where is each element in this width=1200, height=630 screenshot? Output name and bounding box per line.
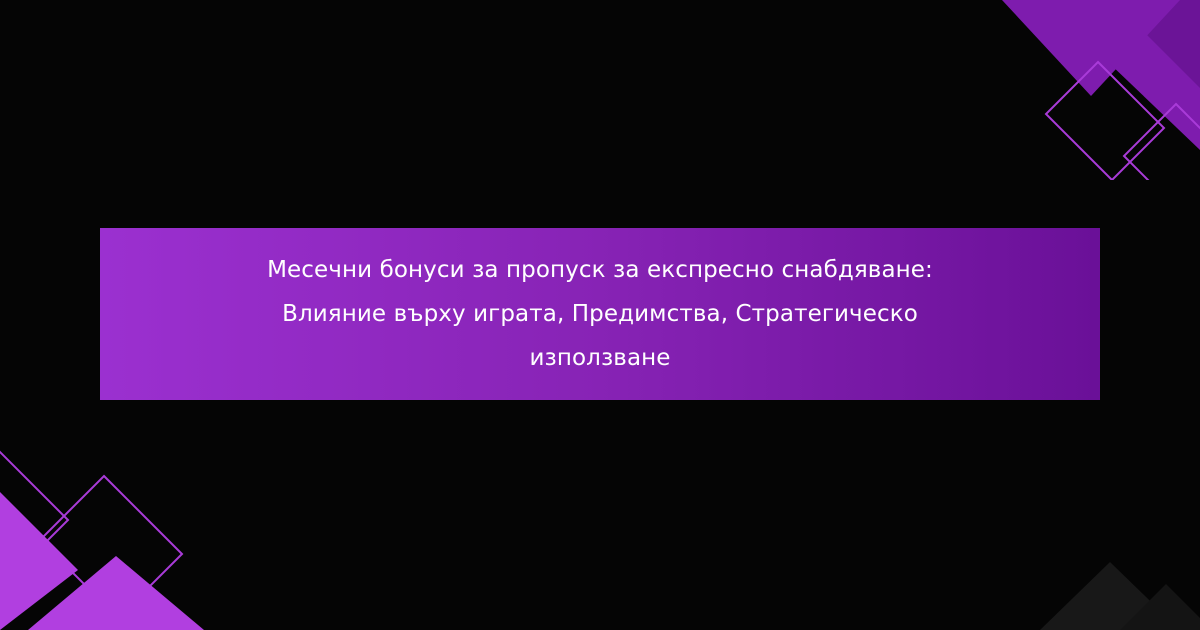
triangle-shape xyxy=(1108,18,1200,150)
triangle-shape xyxy=(1002,0,1180,96)
decoration-bottom-right xyxy=(1000,530,1200,630)
triangle-shape xyxy=(1110,0,1200,132)
diamond-outline-shape xyxy=(1046,62,1164,180)
decoration-bottom-left xyxy=(0,400,240,630)
faint-triangle-shape xyxy=(1040,562,1180,630)
triangle-shape xyxy=(0,492,78,630)
title-banner: Месечни бонуси за пропуск за експресно с… xyxy=(100,228,1100,400)
social-card: Месечни бонуси за пропуск за експресно с… xyxy=(0,0,1200,630)
diamond-outline-shape xyxy=(0,400,68,588)
faint-triangle-shape xyxy=(1120,584,1200,630)
triangle-shape xyxy=(28,556,204,630)
diamond-outline-shape xyxy=(40,476,182,618)
decoration-top-right xyxy=(980,0,1200,180)
page-title: Месечни бонуси за пропуск за експресно с… xyxy=(220,248,980,380)
diamond-outline-shape xyxy=(1124,104,1200,180)
